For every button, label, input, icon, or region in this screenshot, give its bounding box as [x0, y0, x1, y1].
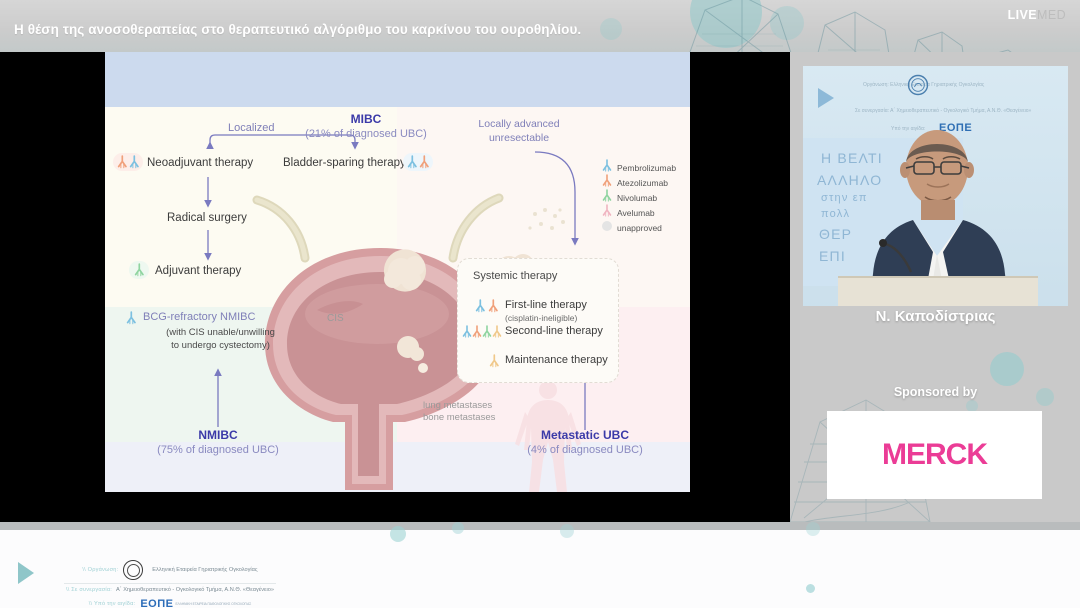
aegis-lead: \\ Υπό την αιγίδα: — [89, 601, 136, 607]
organizer-lead: \\ Οργάνωση: — [82, 567, 118, 573]
livemed-logo: LIVEMED — [1008, 8, 1066, 22]
label-locally-advanced-1: Locally advanced — [455, 118, 583, 130]
label-localized: Localized — [228, 122, 274, 134]
drug-legend: Pembrolizumab Atezolizumab Nivolumab — [600, 160, 676, 235]
footer-top-strip — [0, 522, 1080, 530]
header-band: Η θέση της ανοσοθεραπείας στο θεραπευτικ… — [0, 0, 1080, 52]
legend-label: Atezolizumab — [617, 178, 668, 188]
antibody-icon — [487, 352, 503, 370]
label-bcg-sub-1: (with CIS unable/unwilling — [113, 327, 328, 338]
podium — [838, 276, 1038, 306]
antibody-icon — [129, 260, 149, 280]
footer-banner: \\ Οργάνωση: Ελληνική Εταιρεία Γηριατρικ… — [0, 522, 1080, 608]
footer-aegis-row: \\ Υπό την αιγίδα: ΕΟΠΕ ΕΛΛΗΝΙΚΗ ΕΤΑΙΡΕΙ… — [50, 598, 290, 608]
right-panel: Οργάνωση: Ελληνική Εταιρεία Γηριατρικής … — [790, 52, 1080, 522]
main-stage: Pembrolizumab Atezolizumab Nivolumab — [0, 52, 1080, 522]
legend-item: unapproved — [600, 220, 676, 235]
play-icon[interactable] — [18, 562, 34, 584]
sponsor-logo-card: MERCK — [827, 411, 1042, 499]
label-neoadjuvant-therapy: Neoadjuvant therapy — [147, 157, 253, 169]
decorative-dot — [390, 526, 406, 542]
label-locally-advanced-2: unresectable — [455, 132, 583, 144]
label-systemic-therapy: Systemic therapy — [473, 270, 557, 282]
decorative-blob — [600, 18, 622, 40]
footer-organizers: \\ Οργάνωση: Ελληνική Εταιρεία Γηριατρικ… — [50, 560, 290, 608]
coop-text: Α΄ Χημειοθεραπευτικό - Ογκολογικό Τμήμα,… — [116, 587, 274, 593]
slide-canvas: Pembrolizumab Atezolizumab Nivolumab — [105, 52, 690, 492]
unapproved-icon — [600, 218, 614, 238]
eope-logo: ΕΟΠΕ — [140, 598, 173, 608]
antibody-pair-icon — [113, 152, 143, 172]
coop-lead: \\ Σε συνεργασία: — [66, 587, 112, 593]
footer-coop-row: \\ Σε συνεργασία: Α΄ Χημειοθεραπευτικό -… — [50, 587, 290, 593]
antibody-quad-icon — [461, 323, 505, 341]
video-slide-coop-line: Σε συνεργασία: Α΄ Χημειοθεραπευτικό - Ογ… — [855, 108, 1031, 114]
label-maintenance-therapy: Maintenance therapy — [505, 354, 608, 366]
decorative-dot — [806, 522, 820, 536]
label-first-line-therapy: First-line therapy — [505, 299, 587, 311]
decorative-dot — [452, 522, 464, 534]
footer-organizer-row: \\ Οργάνωση: Ελληνική Εταιρεία Γηριατρικ… — [50, 560, 290, 580]
label-bcg-refractory-nmibc: BCG-refractory NMIBC — [143, 311, 255, 323]
label-nmibc-title: NMIBC — [143, 428, 293, 442]
page-title: Η θέση της ανοσοθεραπείας στο θεραπευτικ… — [14, 22, 581, 37]
video-slide-title-4: πολλ — [821, 208, 850, 220]
label-second-line-therapy: Second-line therapy — [505, 325, 603, 337]
label-lung-metastases: lung metastases — [423, 400, 492, 411]
label-mibc-sub: (21% of diagnosed UBC) — [291, 128, 441, 140]
label-bone-metastases: bone metastases — [423, 412, 495, 423]
slide-video-area[interactable]: Pembrolizumab Atezolizumab Nivolumab — [0, 52, 790, 492]
legend-label: Avelumab — [617, 208, 655, 218]
app-root: Η θέση της ανοσοθεραπείας στο θεραπευτικ… — [0, 0, 1080, 608]
label-first-line-sub: (cisplatin-ineligible) — [505, 313, 577, 323]
label-bcg-sub-2: to undergo cystectomy) — [113, 340, 328, 351]
legend-label: Nivolumab — [617, 193, 657, 203]
antibody-pair-icon — [473, 297, 503, 315]
society-seal-icon — [907, 74, 929, 96]
society-seal-icon — [123, 560, 143, 580]
label-nmibc-sub: (75% of diagnosed UBC) — [133, 444, 303, 456]
legend-label: Pembrolizumab — [617, 163, 676, 173]
speaker-name: Ν. Καποδίστριας — [803, 308, 1068, 325]
organizer-text: Ελληνική Εταιρεία Γηριατρικής Ογκολογίας — [152, 567, 257, 573]
label-adjuvant-therapy: Adjuvant therapy — [155, 265, 241, 277]
antibody-pair-icon — [403, 152, 433, 172]
label-cis: CIS — [327, 313, 344, 324]
merck-logo: MERCK — [882, 438, 987, 472]
label-radical-surgery: Radical surgery — [167, 212, 247, 224]
play-icon[interactable] — [818, 88, 834, 108]
speaker-video[interactable]: Οργάνωση: Ελληνική Εταιρεία Γηριατρικής … — [803, 66, 1068, 306]
label-metastatic-title: Metastatic UBC — [510, 428, 660, 442]
label-mibc-title: MIBC — [301, 112, 431, 126]
label-bladder-sparing-therapy: Bladder-sparing therapy — [283, 157, 406, 169]
eope-logo-subtitle: ΕΛΛΗΝΙΚΗ ΕΤΑΙΡΕΙΑ ΠΑΘΟΛΟΓΙΚΗΣ ΟΓΚΟΛΟΓΙΑΣ — [176, 602, 252, 606]
livemed-logo-light: MED — [1037, 8, 1066, 22]
legend-label: unapproved — [617, 223, 662, 233]
video-slide-title-6: ΕΠΙ — [819, 248, 846, 264]
antibody-icon — [124, 309, 140, 327]
divider — [64, 583, 276, 584]
decorative-dot — [560, 524, 574, 538]
label-metastatic-sub: (4% of diagnosed UBC) — [500, 444, 670, 456]
video-slide-title-5: ΘΕΡ — [819, 226, 852, 242]
sponsored-by-label: Sponsored by — [803, 385, 1068, 399]
livemed-logo-bold: LIVE — [1008, 8, 1037, 22]
decorative-dot — [806, 584, 815, 593]
